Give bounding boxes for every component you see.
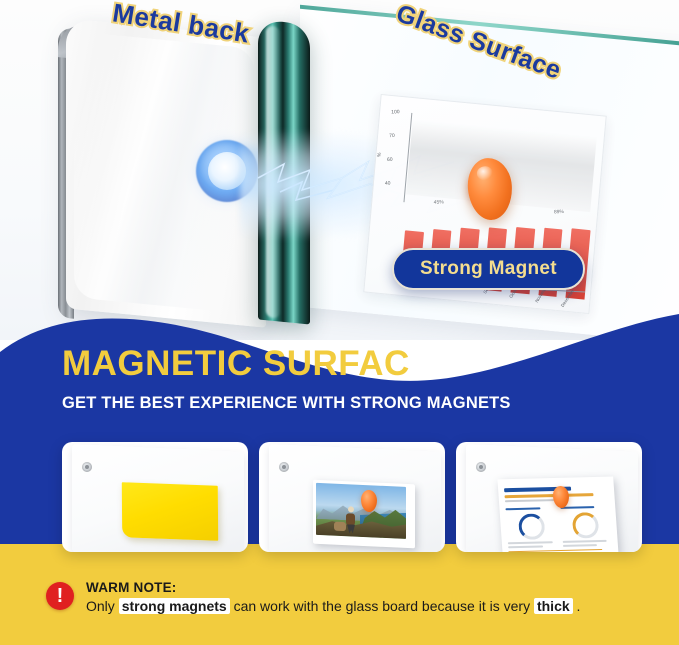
page-subtitle: GET THE BEST EXPERIENCE WITH STRONG MAGN… [62,394,511,413]
hero-product-photo: 100 70 60 40 % 45% 89% June July August … [0,0,679,340]
chart-y-tick-0: 100 [391,109,400,115]
photo-hiker [344,506,358,533]
board-mount-icon [82,462,92,472]
doc-column-left [505,507,557,549]
hiker-backpack [346,513,355,525]
photo-dog [334,522,346,532]
doc-column-heading [505,507,540,510]
chart-annotation-0: 45% [434,199,444,205]
warning-body: Only strong magnets can work with the gl… [86,598,580,614]
warning-text-block: WARM NOTE: Only strong magnets can work … [86,580,580,614]
doc-text-line [562,545,597,547]
doc-text-line [562,540,607,543]
hiker-legs [347,524,355,533]
product-infographic: 100 70 60 40 % 45% 89% June July August … [0,0,679,645]
warning-note: ! WARM NOTE: Only strong magnets can wor… [46,580,646,630]
doc-donut-chart [572,512,600,539]
doc-columns [505,505,612,548]
chart-annotation-1: 89% [554,209,564,215]
hiker-photo [316,483,406,539]
doc-question-line [508,549,601,552]
board-mount-icon [279,462,289,472]
hiker-head [348,506,354,512]
doc-lead-bar [505,493,594,498]
strong-magnet-badge-label: Strong Magnet [420,258,557,280]
page-title: MAGNETIC SURFAC [62,344,410,384]
exclamation-icon: ! [46,582,74,610]
orange-magnet [466,157,514,222]
warning-highlight-strong-magnets: strong magnets [119,598,230,614]
warning-highlight-thick: thick [534,598,573,614]
strong-magnet-badge: Strong Magnet [392,248,585,290]
doc-text-line [508,542,553,545]
yellow-sticky-note [122,482,218,541]
warning-part-0: Only [86,598,119,614]
chart-y-tick-2: 60 [387,157,393,163]
doc-text-line [508,546,543,548]
doc-subtext-bar [505,498,559,501]
feature-card-photo [259,442,445,552]
chart-y-tick-3: 40 [385,181,391,187]
magnet-body [466,157,514,222]
magnet-glow-core [208,152,246,190]
feature-card-document [456,442,642,552]
doc-donut-chart [518,513,546,540]
glass-edge-highlight [266,25,280,318]
warning-part-2: can work with the glass board because it… [230,598,534,614]
exclamation-glyph: ! [57,586,64,606]
photo-frame [313,480,415,549]
chart-y-axis-label: % [376,152,382,157]
chart-y-tick-1: 70 [389,133,395,139]
warning-part-4: . [573,598,581,614]
feature-card-sticky-note [62,442,248,552]
board-mount-icon [476,462,486,472]
warning-title: WARM NOTE: [86,580,580,595]
doc-column-right [560,505,612,547]
